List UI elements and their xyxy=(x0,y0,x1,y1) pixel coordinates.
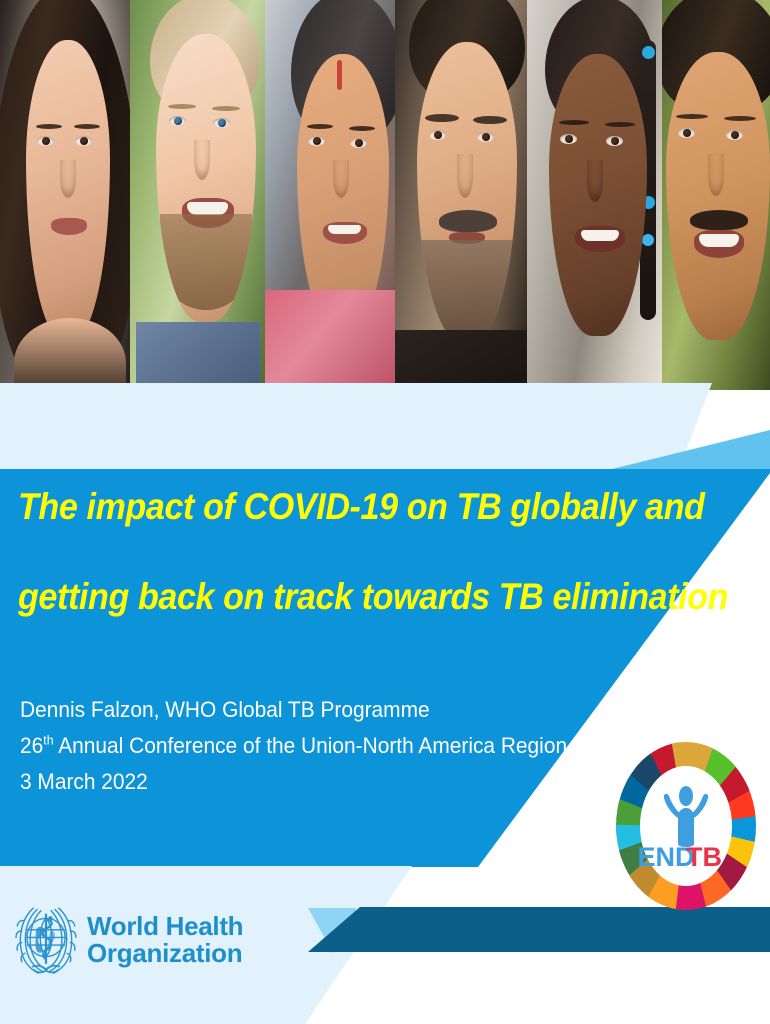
portrait-photo-2 xyxy=(130,0,265,390)
who-logo: World Health Organization xyxy=(14,903,243,977)
title-line-1: The impact of COVID-19 on TB globally an… xyxy=(18,484,607,530)
portrait-photo-3 xyxy=(265,0,395,390)
photo-strip-header xyxy=(0,0,770,390)
who-logo-wordmark: World Health Organization xyxy=(87,913,243,967)
end-tb-wheel-icon: END TB xyxy=(612,738,760,914)
page-title: The impact of COVID-19 on TB globally an… xyxy=(18,484,658,620)
portrait-photo-1 xyxy=(0,0,130,390)
subtitle-block: Dennis Falzon, WHO Global TB Programme 2… xyxy=(20,692,660,800)
event-ordinal-suffix: th xyxy=(43,733,53,748)
event-number: 26 xyxy=(20,733,43,758)
who-emblem-icon xyxy=(14,903,78,977)
presentation-title-slide: The impact of COVID-19 on TB globally an… xyxy=(0,0,770,1024)
date-line: 3 March 2022 xyxy=(20,764,628,800)
portrait-photo-5 xyxy=(527,0,662,390)
event-name: Annual Conference of the Union-North Ame… xyxy=(54,733,568,758)
pale-blue-band xyxy=(0,383,770,471)
event-line: 26th Annual Conference of the Union-Nort… xyxy=(20,728,628,764)
portrait-photo-6 xyxy=(662,0,770,390)
end-tb-logo: END TB xyxy=(612,738,760,914)
who-logo-line-1: World Health xyxy=(87,913,243,940)
end-tb-word-tb: TB xyxy=(686,842,722,872)
who-logo-line-2: Organization xyxy=(87,940,243,967)
title-line-2: getting back on track towards TB elimina… xyxy=(18,574,607,620)
portrait-photo-4 xyxy=(395,0,527,390)
presenter-line: Dennis Falzon, WHO Global TB Programme xyxy=(20,692,628,728)
